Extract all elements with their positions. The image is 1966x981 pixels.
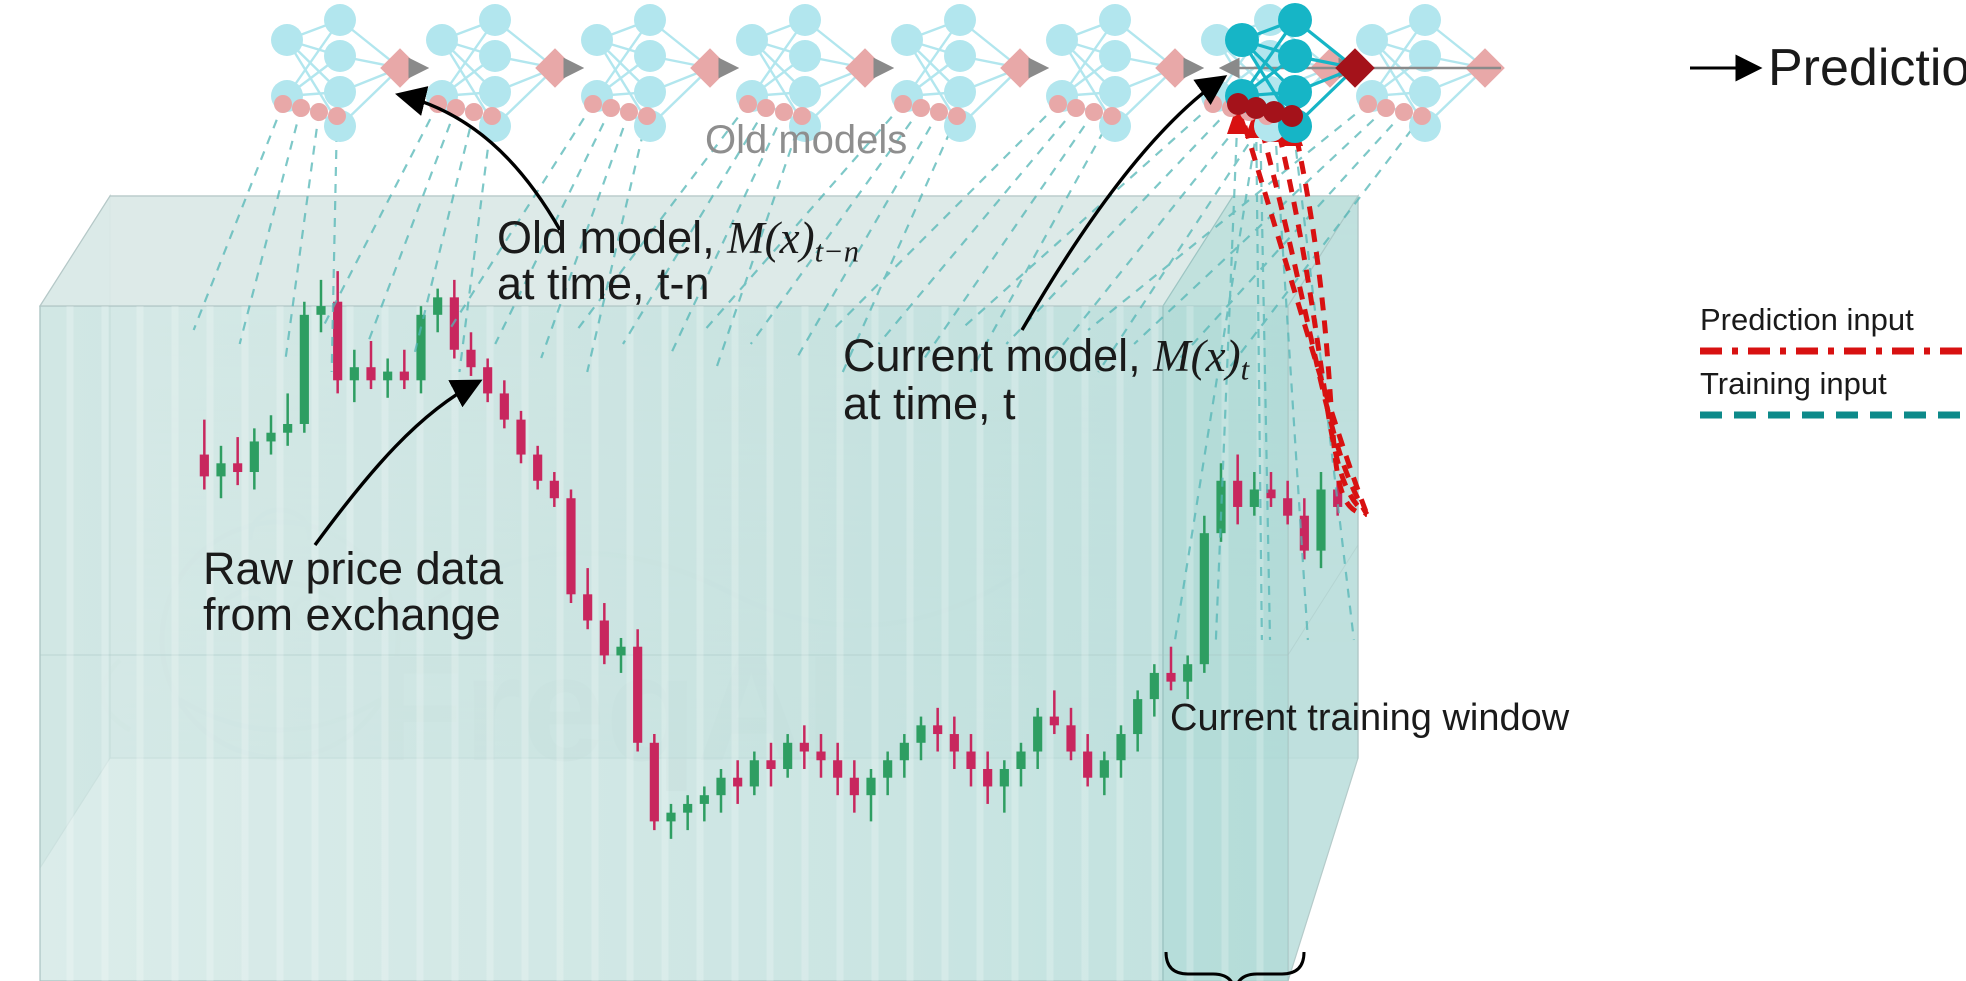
old-model-math-m: M [727, 213, 765, 263]
current-model-math-x: (x) [1191, 331, 1241, 381]
old-model-math-x: (x) [765, 213, 815, 263]
raw-price-caption-line1: Raw price data [203, 543, 503, 595]
current-model-caption-line2: at time, t [843, 378, 1016, 430]
old-model-caption-text: Old model, [497, 212, 727, 263]
legend-lines [0, 0, 1966, 981]
old-models-label: Old models [705, 118, 907, 163]
raw-price-caption-line2: from exchange [203, 589, 501, 641]
legend-label-training-input: Training input [1700, 366, 1887, 402]
current-model-math-subscript: t [1241, 353, 1250, 387]
prediction-label: Prediction [1768, 38, 1966, 98]
current-model-math-m: M [1153, 331, 1191, 381]
old-model-math-subscript: t−n [815, 235, 859, 269]
diagram-canvas: FreqAI [0, 0, 1966, 981]
current-training-window-label: Current training window [1170, 697, 1569, 740]
old-model-caption-line2: at time, t-n [497, 258, 710, 310]
current-model-caption-text: Current model, [843, 330, 1153, 381]
legend-label-prediction-input: Prediction input [1700, 302, 1914, 338]
